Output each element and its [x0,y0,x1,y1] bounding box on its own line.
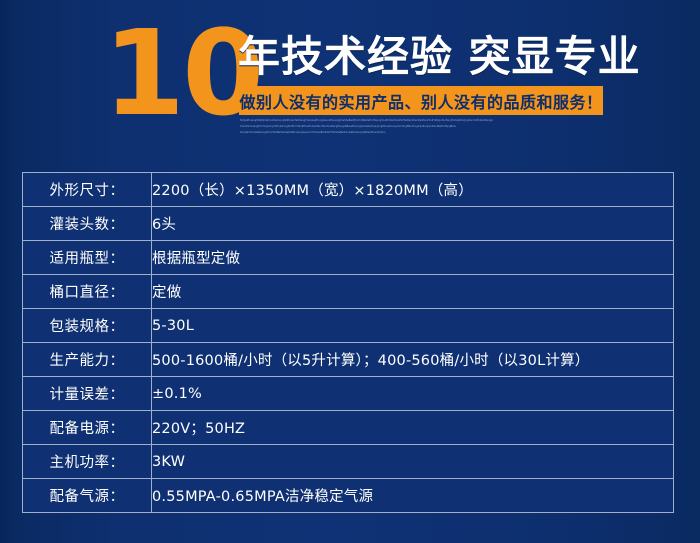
spec-value-cell: 5-30L [152,309,674,343]
spec-label-cell: 适用瓶型： [23,241,152,275]
spec-value-cell: 500-1600桶/小时（以5升计算）；400-560桶/小时（以30L计算） [152,343,674,377]
table-row: 生产能力： 500-1600桶/小时（以5升计算）；400-560桶/小时（以3… [23,343,674,377]
table-row: 配备电源： 220V；50HZ [23,411,674,445]
banner-subtitle-bar: 做别人没有的实用产品、别人没有的品质和服务！ [239,86,603,115]
microtext-line: GongSiYiLiuDeShengChanSheBeiYanGeDeZhiLi… [240,130,602,136]
spec-label-cell: 外形尺寸： [23,173,152,207]
spec-label-cell: 灌装头数： [23,207,152,241]
spec-value-cell: 2200（长）×1350MM（宽）×1820MM（高） [152,173,674,207]
table-row: 灌装头数： 6头 [23,207,674,241]
table-row: 桶口直径： 定做 [23,275,674,309]
table-row: 外形尺寸： 2200（长）×1350MM（宽）×1820MM（高） [23,173,674,207]
spec-label-cell: 计量误差： [23,377,152,411]
table-row: 配备气源： 0.55MPA-0.65MPA洁净稳定气源 [23,479,674,513]
spec-label-cell: 包装规格： [23,309,152,343]
spec-value-cell: 0.55MPA-0.65MPA洁净稳定气源 [152,479,674,513]
spec-value-cell: 6头 [152,207,674,241]
table-row: 计量误差： ±0.1% [23,377,674,411]
spec-value-cell: 定做 [152,275,674,309]
banner-subtitle-text: 做别人没有的实用产品、别人没有的品质和服务！ [239,89,602,113]
spec-label-cell: 配备气源： [23,479,152,513]
table-row: 适用瓶型： 根据瓶型定做 [23,241,674,275]
spec-value-cell: 220V；50HZ [152,411,674,445]
banner-headline: 年技术经验 突显专业 [238,32,641,82]
table-row: 主机功率： 3KW [23,445,674,479]
promo-banner: 10 年技术经验 突显专业 做别人没有的实用产品、别人没有的品质和服务！ Shi… [0,0,700,160]
spec-label-cell: 生产能力： [23,343,152,377]
decorative-microtext-block: ShiJiaZhuangShiJiQiXieYouXianGongSiZhuan… [240,118,602,136]
product-spec-page: 10 年技术经验 突显专业 做别人没有的实用产品、别人没有的品质和服务！ Shi… [0,0,700,543]
spec-table-body: 外形尺寸： 2200（长）×1350MM（宽）×1820MM（高） 灌装头数： … [23,173,674,513]
spec-value-cell: 根据瓶型定做 [152,241,674,275]
spec-value-cell: 3KW [152,445,674,479]
spec-label-cell: 桶口直径： [23,275,152,309]
spec-label-cell: 配备电源： [23,411,152,445]
spec-label-cell: 主机功率： [23,445,152,479]
specification-table: 外形尺寸： 2200（长）×1350MM（宽）×1820MM（高） 灌装头数： … [22,172,674,513]
table-row: 包装规格： 5-30L [23,309,674,343]
spec-value-cell: ±0.1% [152,377,674,411]
